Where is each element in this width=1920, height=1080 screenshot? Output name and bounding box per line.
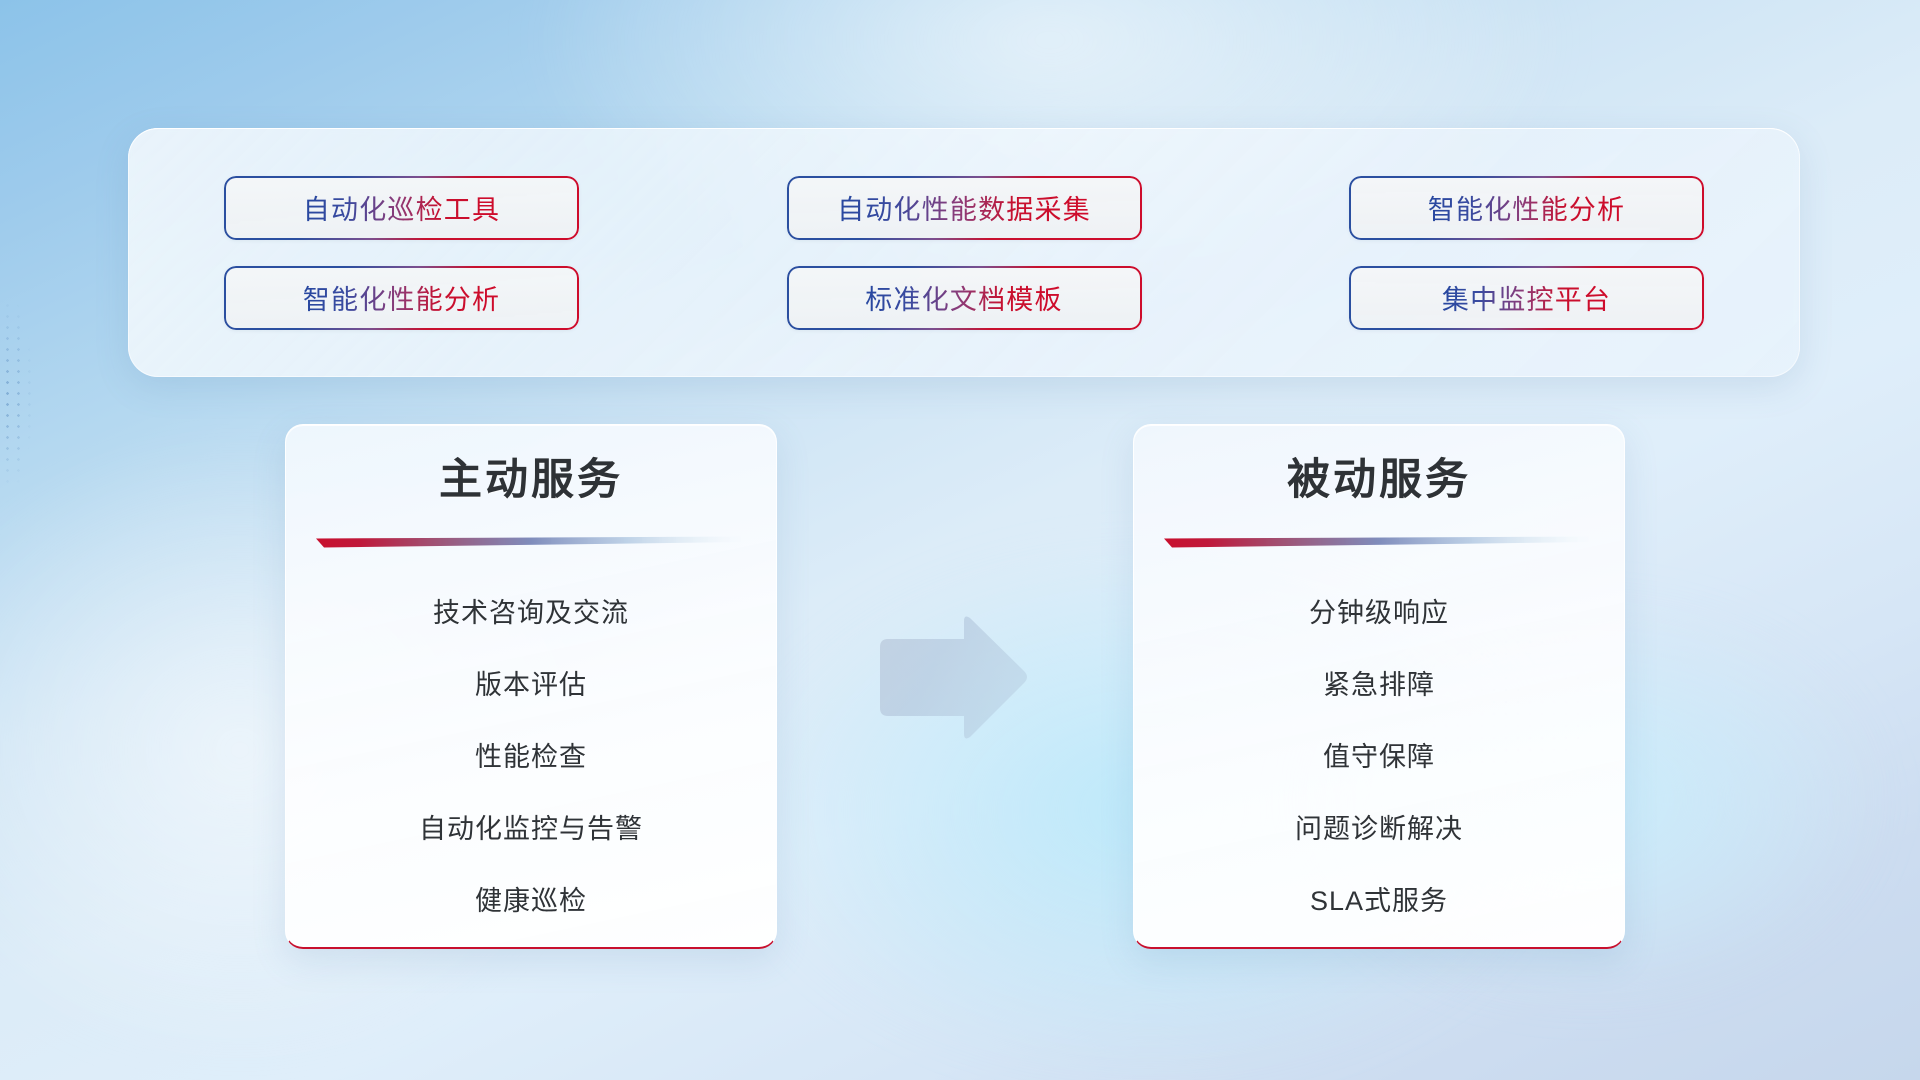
diagram-stage: 自动化巡检工具 自动化性能数据采集 智能化性能分析 智能化性能分析 标准化文档模… xyxy=(0,0,1920,1080)
capability-pill-label: 自动化巡检工具 xyxy=(303,188,500,227)
capability-pill-standard-doc-template[interactable]: 标准化文档模板 xyxy=(787,266,1142,330)
service-card-reactive: 被动服务 分钟级响应 紧急排障 xyxy=(1133,424,1625,949)
arrow-right-icon xyxy=(872,613,1032,743)
capability-pill-label: 智能化性能分析 xyxy=(303,278,500,317)
capability-pill-label: 集中监控平台 xyxy=(1442,278,1611,317)
list-item: 分钟级响应 xyxy=(1309,574,1449,646)
card-title: 主动服务 xyxy=(439,459,623,502)
list-item: 版本评估 xyxy=(475,646,587,718)
list-item: 性能检查 xyxy=(475,718,587,790)
capability-pill-central-monitoring-platform[interactable]: 集中监控平台 xyxy=(1349,266,1704,330)
list-item: SLA式服务 xyxy=(1310,862,1448,934)
capability-row-1: 自动化巡检工具 自动化性能数据采集 智能化性能分析 xyxy=(128,176,1800,240)
card-divider xyxy=(316,536,746,548)
list-item: 值守保障 xyxy=(1323,718,1435,790)
card-title: 被动服务 xyxy=(1287,459,1471,502)
capability-pill-auto-inspection-tool[interactable]: 自动化巡检工具 xyxy=(224,176,579,240)
capability-pill-label: 智能化性能分析 xyxy=(1428,188,1625,227)
capability-pill-intelligent-performance-analysis-2[interactable]: 智能化性能分析 xyxy=(224,266,579,330)
capability-pill-label: 自动化性能数据采集 xyxy=(837,188,1091,227)
capability-pill-auto-performance-data-collection[interactable]: 自动化性能数据采集 xyxy=(787,176,1142,240)
capability-pill-label: 标准化文档模板 xyxy=(865,278,1062,317)
capability-pill-intelligent-performance-analysis[interactable]: 智能化性能分析 xyxy=(1349,176,1704,240)
card-divider xyxy=(1164,536,1594,548)
card-item-list: 技术咨询及交流 版本评估 性能检查 自动化监控与告警 健康巡检 xyxy=(286,574,776,934)
service-card-proactive: 主动服务 技术咨询及交流 版本评估 xyxy=(285,424,777,949)
card-item-list: 分钟级响应 紧急排障 值守保障 问题诊断解决 SLA式服务 xyxy=(1134,574,1624,934)
list-item: 紧急排障 xyxy=(1323,646,1435,718)
capability-panel: 自动化巡检工具 自动化性能数据采集 智能化性能分析 智能化性能分析 标准化文档模… xyxy=(128,128,1800,377)
list-item: 自动化监控与告警 xyxy=(419,790,643,862)
list-item: 技术咨询及交流 xyxy=(433,574,629,646)
capability-row-2: 智能化性能分析 标准化文档模板 集中监控平台 xyxy=(128,266,1800,330)
list-item: 问题诊断解决 xyxy=(1295,790,1463,862)
list-item: 健康巡检 xyxy=(475,862,587,934)
